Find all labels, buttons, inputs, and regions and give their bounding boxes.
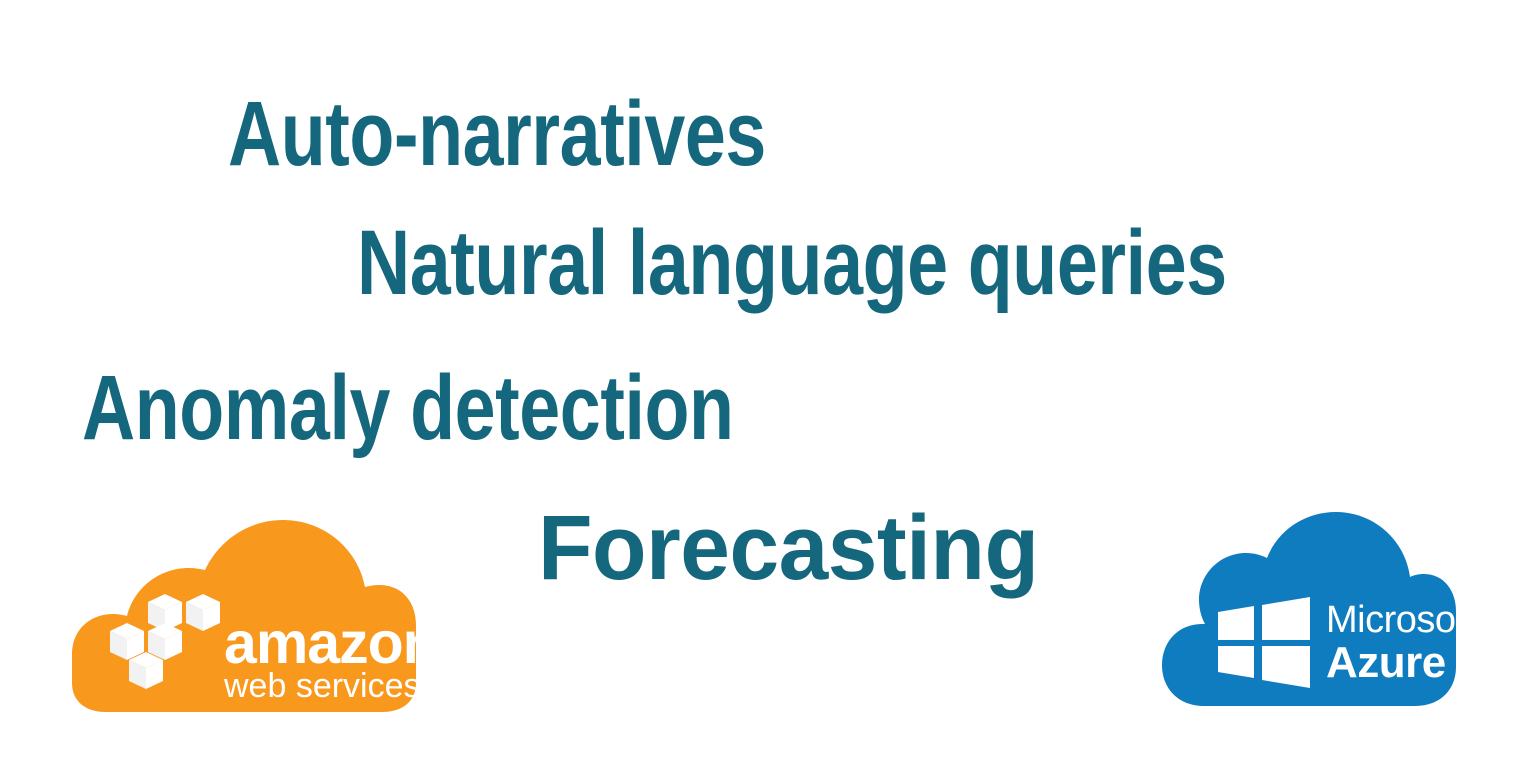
phrase-forecasting: Forecasting <box>538 502 1038 594</box>
phrase-natural-language-queries: Natural language queries <box>357 217 1227 309</box>
aws-wordmark-web-services: web services <box>223 667 421 705</box>
azure-wordmark-azure: Azure <box>1326 638 1446 687</box>
aws-cloud-logo: amazon web services <box>66 520 422 720</box>
phrase-anomaly-detection: Anomaly detection <box>82 362 734 454</box>
azure-cloud-logo: Microsoft Azure <box>1158 512 1460 712</box>
slide-canvas: Auto-narratives Natural language queries… <box>0 0 1536 768</box>
phrase-auto-narratives: Auto-narratives <box>228 88 766 180</box>
azure-wordmark-microsoft: Microsoft <box>1326 599 1477 641</box>
